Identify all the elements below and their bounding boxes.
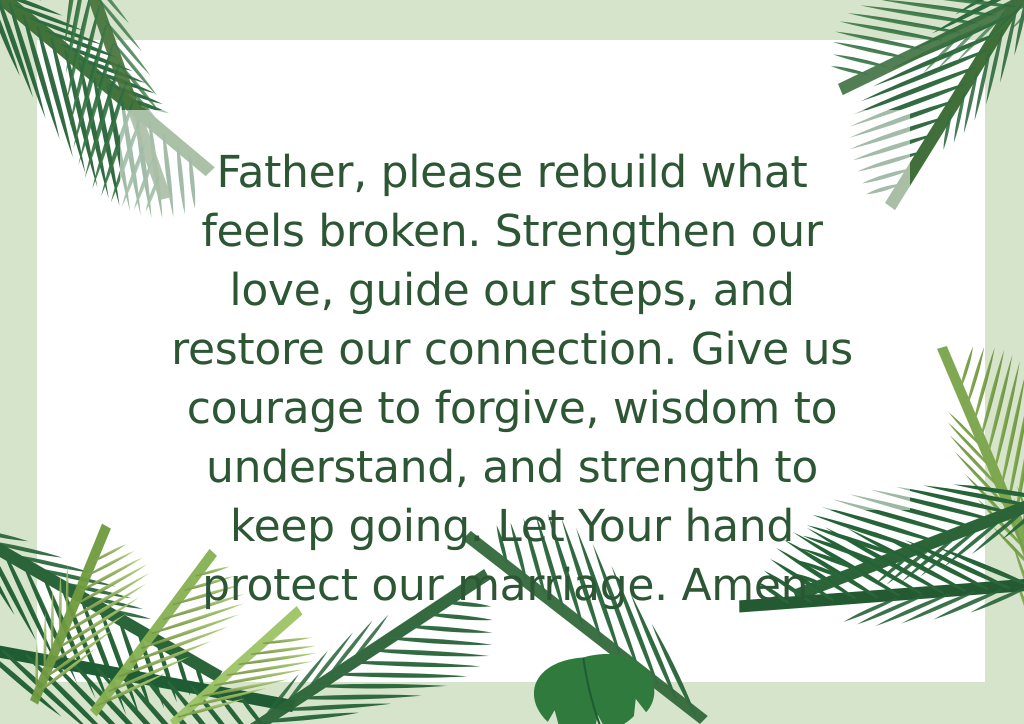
verse-block: Father, please rebuild what feels broken… <box>0 0 1024 724</box>
greeting-card: Father, please rebuild what feels broken… <box>0 0 1024 724</box>
prayer-verse-text: Father, please rebuild what feels broken… <box>162 143 862 615</box>
